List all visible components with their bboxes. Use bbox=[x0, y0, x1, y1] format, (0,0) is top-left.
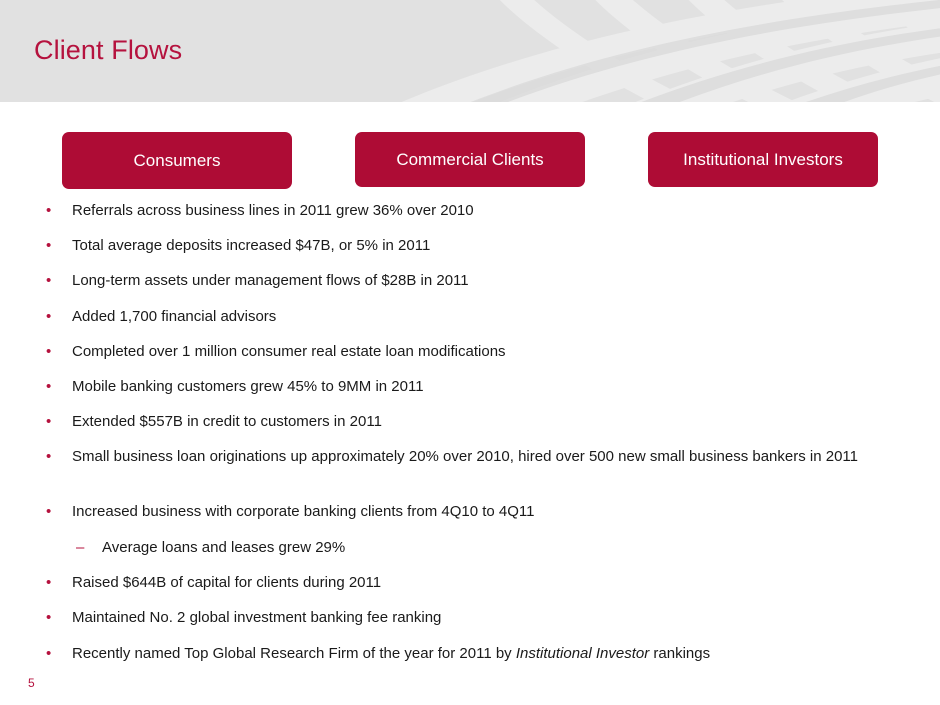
bullet-marker-icon: • bbox=[46, 270, 72, 292]
bullet-marker-icon: • bbox=[46, 607, 72, 629]
bullet-text: Long-term assets under management flows … bbox=[72, 270, 469, 292]
bullet-marker-icon: • bbox=[46, 446, 72, 468]
bullet-marker-icon: • bbox=[46, 501, 72, 523]
italic-phrase: Institutional Investor bbox=[516, 645, 649, 662]
bullet-marker-icon: • bbox=[46, 643, 72, 665]
slide-header: Client Flows bbox=[0, 0, 940, 102]
bullet-item: •Raised $644B of capital for clients dur… bbox=[46, 572, 381, 594]
category-box-label: Consumers bbox=[134, 151, 221, 171]
bullet-marker-icon: • bbox=[46, 341, 72, 363]
bullet-item: •Maintained No. 2 global investment bank… bbox=[46, 607, 441, 629]
bullet-item: •Referrals across business lines in 2011… bbox=[46, 200, 474, 222]
bullet-item: •Small business loan originations up app… bbox=[46, 446, 858, 468]
bullet-marker-icon: • bbox=[46, 572, 72, 594]
bullet-marker-icon: • bbox=[46, 235, 72, 257]
bullet-item: •Total average deposits increased $47B, … bbox=[46, 235, 430, 257]
page-number: 5 bbox=[28, 676, 35, 690]
bullet-item: •Mobile banking customers grew 45% to 9M… bbox=[46, 376, 424, 398]
bullet-item: •Added 1,700 financial advisors bbox=[46, 306, 276, 328]
bullet-text: Extended $557B in credit to customers in… bbox=[72, 411, 382, 433]
bullet-text: Referrals across business lines in 2011 … bbox=[72, 200, 474, 222]
bullet-text: Mobile banking customers grew 45% to 9MM… bbox=[72, 376, 424, 398]
bullet-text: Completed over 1 million consumer real e… bbox=[72, 341, 506, 363]
bullet-marker-icon: • bbox=[46, 306, 72, 328]
bullet-text: Maintained No. 2 global investment banki… bbox=[72, 607, 441, 629]
bullet-text: Added 1,700 financial advisors bbox=[72, 306, 276, 328]
bullet-marker-icon: • bbox=[46, 200, 72, 222]
bullet-text: Increased business with corporate bankin… bbox=[72, 501, 534, 523]
bullet-item: •Increased business with corporate banki… bbox=[46, 501, 534, 523]
bullet-item: •Recently named Top Global Research Firm… bbox=[46, 643, 710, 665]
bullet-text: Recently named Top Global Research Firm … bbox=[72, 643, 710, 665]
bullet-text: Small business loan originations up appr… bbox=[72, 446, 858, 468]
bullet-marker-icon: • bbox=[46, 376, 72, 398]
page-title: Client Flows bbox=[34, 33, 182, 67]
category-box-label: Institutional Investors bbox=[683, 150, 843, 170]
category-box-label: Commercial Clients bbox=[396, 150, 543, 170]
bullet-item: •Extended $557B in credit to customers i… bbox=[46, 411, 382, 433]
sub-bullet-item: –Average loans and leases grew 29% bbox=[76, 537, 345, 559]
bullet-marker-icon: • bbox=[46, 411, 72, 433]
bullet-item: •Completed over 1 million consumer real … bbox=[46, 341, 506, 363]
bullet-text: Raised $644B of capital for clients duri… bbox=[72, 572, 381, 594]
category-box-commercial-clients[interactable]: Commercial Clients bbox=[355, 132, 585, 187]
bullet-item: •Long-term assets under management flows… bbox=[46, 270, 469, 292]
bullet-text: Average loans and leases grew 29% bbox=[102, 537, 345, 559]
bullet-text: Total average deposits increased $47B, o… bbox=[72, 235, 430, 257]
category-box-consumers[interactable]: Consumers bbox=[62, 132, 292, 189]
dash-marker-icon: – bbox=[76, 537, 102, 559]
category-box-institutional-investors[interactable]: Institutional Investors bbox=[648, 132, 878, 187]
